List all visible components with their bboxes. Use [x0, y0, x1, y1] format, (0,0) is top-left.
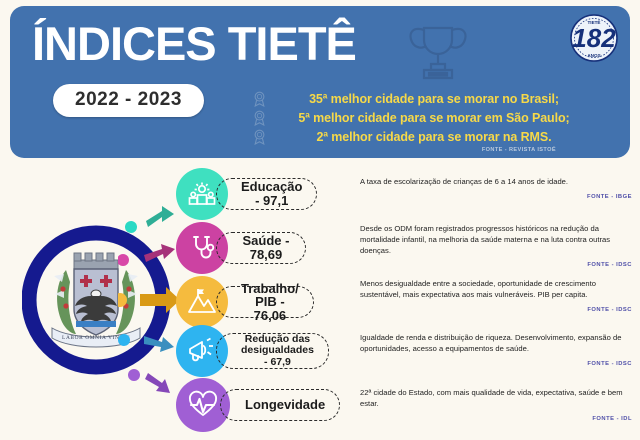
ranking-item: 5ª melhor cidade para se morar em São Pa…	[250, 109, 600, 126]
ranking-text: 2ª melhor cidade para se morar na RMS.	[268, 130, 600, 144]
indicator-pill-reducao-desigualdades[interactable]: Redução das desigualdades - 67,9	[216, 333, 329, 369]
indicator-desc-longevidade: 22ª cidade do Estado, com mais qualidade…	[360, 388, 632, 422]
indicator-pill-educacao[interactable]: Educação - 97,1	[216, 178, 317, 210]
indicator-desc-trabalho-pib: Menos desigualdade entre a sociedade, op…	[360, 279, 632, 313]
description-source: FONTE - IDL	[360, 416, 632, 422]
indicator-label: Saúde - 78,69	[241, 234, 291, 261]
ring-dot-longevidade	[128, 369, 140, 381]
medal-ribbon-icon	[250, 110, 268, 126]
rankings-list: 35ª melhor cidade para se morar no Brasi…	[250, 90, 600, 153]
header-source: FONTE - REVISTA ISTOÉ	[250, 147, 600, 153]
ranking-text: 35ª melhor cidade para se morar no Brasi…	[268, 92, 600, 106]
ranking-item: 35ª melhor cidade para se morar no Brasi…	[250, 90, 600, 107]
description-source: FONTE - IBGE	[360, 194, 632, 200]
ranking-text: 5ª melhor cidade para se morar em São Pa…	[268, 111, 600, 125]
indicator-label: Trabalho/ PIB - 76,06	[241, 282, 299, 323]
medal-ribbon-icon	[250, 91, 268, 107]
infographic-page: ÍNDICES TIETÊ TIETÊ 182 ANOS 2022 - 2023	[0, 0, 640, 440]
logo-number: 182	[572, 23, 616, 53]
ring-dot-saude	[118, 254, 129, 266]
indicator-pill-saude[interactable]: Saúde - 78,69	[216, 232, 306, 264]
ranking-item: 2ª melhor cidade para se morar na RMS.	[250, 128, 600, 145]
description-text: Menos desigualdade entre a sociedade, op…	[360, 279, 632, 301]
indicator-desc-saude: Desde os ODM foram registrados progresso…	[360, 224, 632, 268]
description-text: Igualdade de renda e distribuição de riq…	[360, 333, 632, 355]
indicator-desc-educacao: A taxa de escolarização de crianças de 6…	[360, 177, 632, 200]
description-source: FONTE - IDSC	[360, 307, 632, 313]
description-source: FONTE - IDSC	[360, 262, 632, 268]
arrow-reducao	[144, 336, 174, 352]
trophy-icon	[402, 18, 474, 86]
indicator-pill-longevidade[interactable]: Longevidade	[220, 389, 340, 421]
description-text: 22ª cidade do Estado, com mais qualidade…	[360, 388, 632, 410]
ring-dot-reducao	[118, 334, 130, 346]
ring-dot-educacao	[125, 221, 137, 233]
logo-bottom-text: ANOS	[587, 53, 600, 58]
indicator-pill-trabalho-pib[interactable]: Trabalho/ PIB - 76,06	[216, 286, 314, 318]
arrow-educacao	[146, 206, 174, 227]
arrow-saude	[144, 244, 175, 262]
arrow-trabalho	[140, 287, 180, 313]
page-title: ÍNDICES TIETÊ	[32, 20, 356, 67]
ring-dot-trabalho	[118, 293, 127, 307]
indicator-label: Redução das desigualdades - 67,9	[241, 334, 314, 367]
header-banner: ÍNDICES TIETÊ TIETÊ 182 ANOS 2022 - 2023	[10, 6, 630, 158]
year-badge: 2022 - 2023	[53, 84, 204, 117]
medal-ribbon-icon	[250, 129, 268, 145]
indicator-label: Educação - 97,1	[241, 180, 302, 207]
arrow-longevidade	[145, 373, 170, 393]
indicator-desc-reducao-desigualdades: Igualdade de renda e distribuição de riq…	[360, 333, 632, 367]
indicator-label: Longevidade	[245, 398, 325, 412]
description-source: FONTE - IDSC	[360, 361, 632, 367]
description-text: A taxa de escolarização de crianças de 6…	[360, 177, 632, 188]
logo-182-anos: TIETÊ 182 ANOS	[563, 12, 625, 64]
description-text: Desde os ODM foram registrados progresso…	[360, 224, 632, 256]
